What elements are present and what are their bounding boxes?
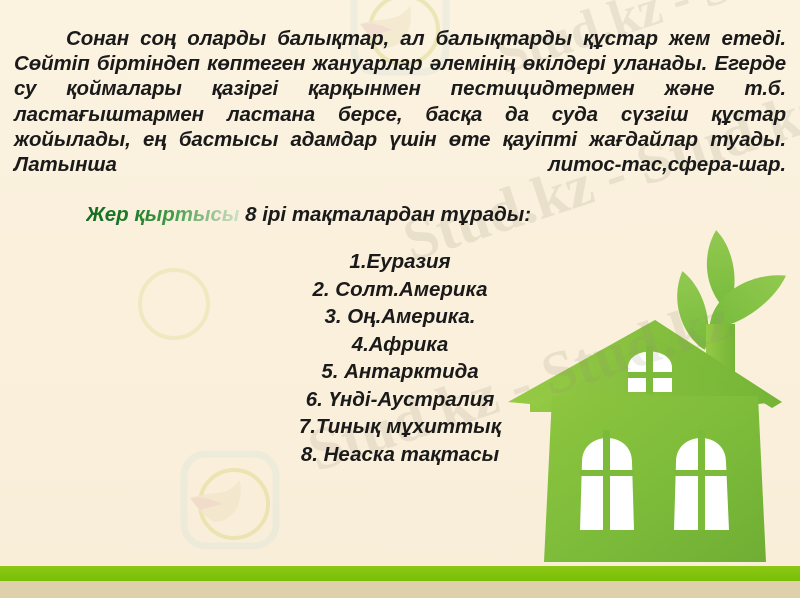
plate-list: 1.Еуразия 2. Солт.Америка 3. Оң.Америка.… bbox=[0, 248, 800, 468]
bottom-tan-stripe bbox=[0, 581, 800, 598]
bottom-green-stripe bbox=[0, 566, 800, 581]
subheading: Жер қыртысы 8 ірі тақталардан тұрады: bbox=[14, 202, 786, 228]
list-item: 8. Неаска тақтасы bbox=[0, 441, 800, 469]
list-item: 6. Үнді-Аустралия bbox=[0, 386, 800, 414]
subheading-rest: 8 ірі тақталардан тұрады: bbox=[239, 203, 531, 226]
body-paragraph: Сонан соң оларды балықтар, ал балықтарды… bbox=[14, 26, 786, 202]
list-item: 2. Солт.Америка bbox=[0, 276, 800, 304]
list-item: 7.Тинық мұхиттық bbox=[0, 413, 800, 441]
subheading-highlight: Жер қыртысы bbox=[86, 203, 239, 226]
list-item: 5. Антарктида bbox=[0, 358, 800, 386]
list-item: 3. Оң.Америка. bbox=[0, 303, 800, 331]
slide-canvas: Stud.kz - Stud.kz Stud.kz - Stud.kz Stud… bbox=[0, 0, 800, 598]
list-item: 4.Африка bbox=[0, 331, 800, 359]
list-item: 1.Еуразия bbox=[0, 248, 800, 276]
